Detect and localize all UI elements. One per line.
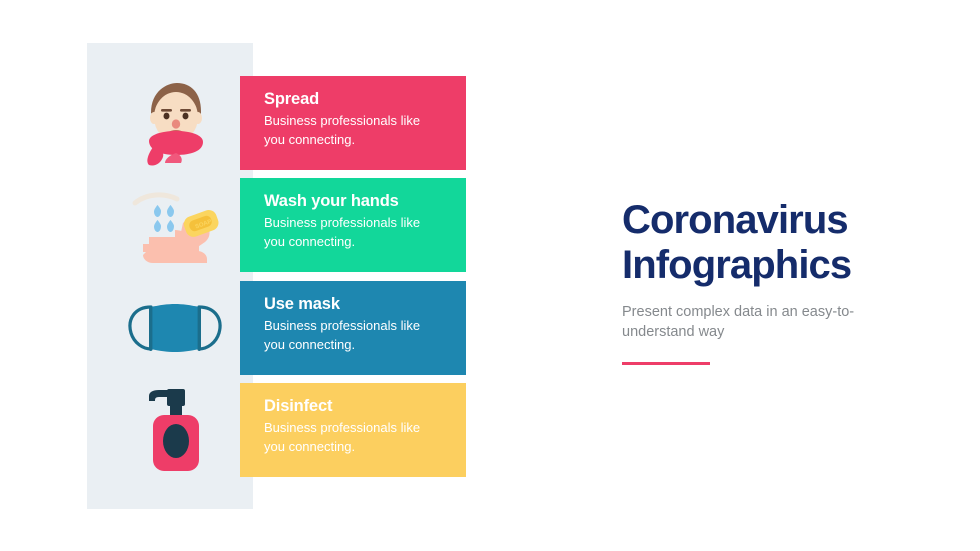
page-subtitle: Present complex data in an easy-to-under…: [622, 302, 872, 342]
step-title: Wash your hands: [264, 192, 448, 210]
steps-list: Spread Business professionals like you c…: [120, 76, 470, 481]
step-description: Business professionals like you connecti…: [264, 112, 444, 150]
step-title: Disinfect: [264, 397, 448, 415]
title-block: Coronavirus Infographics Present complex…: [622, 198, 922, 365]
step-row-wash-your-hands[interactable]: SOAP Wash your hands Business profession…: [120, 178, 470, 272]
step-card-wash-your-hands[interactable]: Wash your hands Business professionals l…: [240, 178, 466, 272]
page-title: Coronavirus Infographics: [622, 198, 922, 288]
step-row-spread[interactable]: Spread Business professionals like you c…: [120, 76, 470, 170]
step-card-use-mask[interactable]: Use mask Business professionals like you…: [240, 281, 466, 375]
step-title: Spread: [264, 90, 448, 108]
step-card-disinfect[interactable]: Disinfect Business professionals like yo…: [240, 383, 466, 477]
step-row-use-mask[interactable]: Use mask Business professionals like you…: [120, 281, 470, 375]
accent-underline: [622, 362, 710, 365]
step-description: Business professionals like you connecti…: [264, 419, 444, 457]
step-description: Business professionals like you connecti…: [264, 214, 444, 252]
face-mask-icon: [120, 281, 230, 375]
sanitizer-bottle-icon: [120, 383, 230, 477]
step-row-disinfect[interactable]: Disinfect Business professionals like yo…: [120, 383, 470, 477]
hand-washing-icon: SOAP: [120, 178, 230, 272]
step-description: Business professionals like you connecti…: [264, 317, 444, 355]
sick-person-icon: [120, 76, 230, 170]
step-card-spread[interactable]: Spread Business professionals like you c…: [240, 76, 466, 170]
step-title: Use mask: [264, 295, 448, 313]
